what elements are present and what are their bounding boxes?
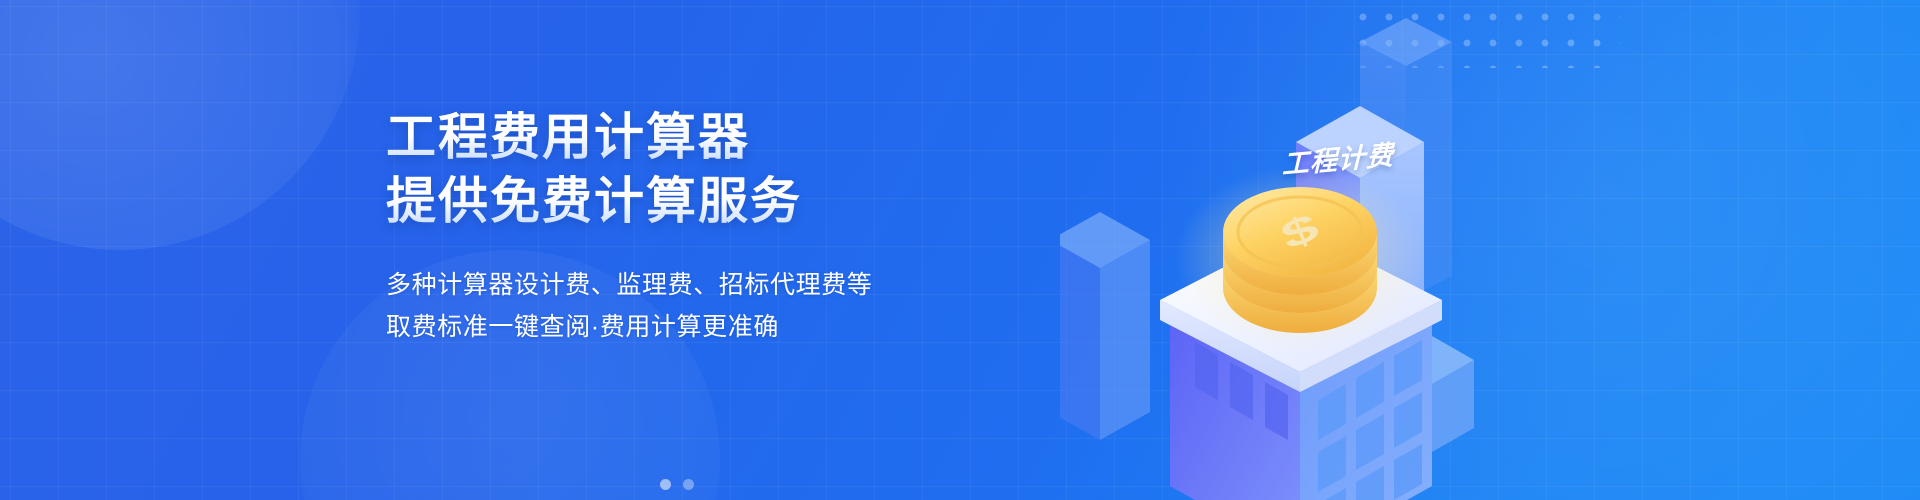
carousel-dots[interactable]	[660, 479, 694, 490]
page-title-line-2: 提供免费计算服务	[386, 172, 1006, 230]
page-title-line-1: 工程费用计算器	[386, 108, 1006, 166]
banner-subtitle-line-2: 取费标准一键查阅·费用计算更准确	[386, 306, 1006, 348]
banner-copy-block: 工程费用计算器 提供免费计算服务 多种计算器设计费、监理费、招标代理费等 取费标…	[386, 108, 1006, 348]
decor-block-left	[1060, 212, 1150, 440]
carousel-dot-1[interactable]	[660, 479, 671, 490]
banner-subtitle-line-1: 多种计算器设计费、监理费、招标代理费等	[386, 264, 1006, 306]
hero-illustration: $ 工程计费	[1060, 0, 1760, 500]
carousel-dot-2[interactable]	[683, 479, 694, 490]
coin-stack: $	[1223, 187, 1377, 333]
decor-circle-top-left	[0, 0, 360, 250]
hero-banner: 工程费用计算器 提供免费计算服务 多种计算器设计费、监理费、招标代理费等 取费标…	[0, 0, 1920, 500]
